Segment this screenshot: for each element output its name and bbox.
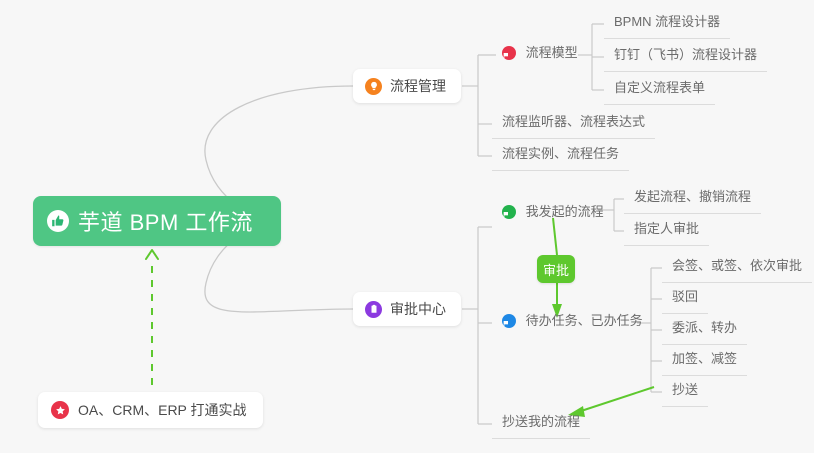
leaf-label-start-cancel: 发起流程、撤销流程 bbox=[634, 189, 751, 204]
leaf-start-cancel[interactable]: 发起流程、撤销流程 bbox=[624, 187, 761, 214]
node-process-model[interactable]: 流程模型 bbox=[492, 43, 588, 69]
leaf-label-instance-task: 流程实例、流程任务 bbox=[502, 146, 619, 161]
leaf-label-cc: 抄送 bbox=[672, 382, 698, 397]
leaf-label-listener-expression: 流程监听器、流程表达式 bbox=[502, 114, 645, 129]
flag-icon bbox=[502, 205, 516, 219]
leaf-label-cc-to-me: 抄送我的流程 bbox=[502, 414, 580, 429]
float-node-integration-practice[interactable]: OA、CRM、ERP 打通实战 bbox=[38, 392, 263, 428]
leaf-label-delegate-transfer: 委派、转办 bbox=[672, 320, 737, 335]
leaf-add-remove-sign[interactable]: 加签、减签 bbox=[662, 349, 747, 376]
node-label-todo-done: 待办任务、已办任务 bbox=[526, 313, 643, 328]
branch-label-approval-center: 审批中心 bbox=[390, 299, 446, 319]
root-node[interactable]: 芋道 BPM 工作流 bbox=[33, 196, 281, 246]
node-todo-done[interactable]: 待办任务、已办任务 bbox=[492, 311, 653, 337]
node-my-started[interactable]: 我发起的流程 bbox=[492, 202, 614, 228]
branch-node-approval-center[interactable]: 审批中心 bbox=[353, 292, 461, 326]
leaf-label-dingtalk-designer: 钉钉（飞书）流程设计器 bbox=[614, 47, 757, 62]
branch-node-process-management[interactable]: 流程管理 bbox=[353, 69, 461, 103]
leaf-assignee-approval[interactable]: 指定人审批 bbox=[624, 219, 709, 246]
leaf-label-countersign: 会签、或签、依次审批 bbox=[672, 258, 802, 273]
leaf-label-add-remove-sign: 加签、减签 bbox=[672, 351, 737, 366]
node-label-process-model: 流程模型 bbox=[526, 45, 578, 60]
root-label: 芋道 BPM 工作流 bbox=[78, 205, 253, 237]
branch-label-process-management: 流程管理 bbox=[390, 76, 446, 96]
leaf-dingtalk-designer[interactable]: 钉钉（飞书）流程设计器 bbox=[604, 45, 767, 72]
leaf-reject[interactable]: 驳回 bbox=[662, 287, 708, 314]
star-icon bbox=[51, 401, 69, 419]
leaf-cc-to-me[interactable]: 抄送我的流程 bbox=[492, 412, 590, 439]
leaf-label-bpmn-designer: BPMN 流程设计器 bbox=[614, 14, 720, 29]
leaf-instance-task[interactable]: 流程实例、流程任务 bbox=[492, 144, 629, 171]
leaf-listener-expression[interactable]: 流程监听器、流程表达式 bbox=[492, 112, 655, 139]
annotation-approval-badge: 审批 bbox=[537, 255, 575, 283]
arrow-cc-to-flow bbox=[578, 387, 654, 412]
leaf-label-reject: 驳回 bbox=[672, 289, 698, 304]
arrowhead-integration-up bbox=[146, 250, 158, 259]
leaf-delegate-transfer[interactable]: 委派、转办 bbox=[662, 318, 747, 345]
lightbulb-icon bbox=[365, 78, 382, 95]
flag-icon bbox=[502, 314, 516, 328]
flag-icon bbox=[502, 46, 516, 60]
leaf-label-assignee-approval: 指定人审批 bbox=[634, 221, 699, 236]
annotation-approval-label: 审批 bbox=[543, 260, 569, 279]
clipboard-icon bbox=[365, 301, 382, 318]
node-label-my-started: 我发起的流程 bbox=[526, 204, 604, 219]
leaf-cc[interactable]: 抄送 bbox=[662, 380, 708, 407]
leaf-countersign[interactable]: 会签、或签、依次审批 bbox=[662, 256, 812, 283]
leaf-bpmn-designer[interactable]: BPMN 流程设计器 bbox=[604, 12, 730, 39]
float-label-integration-practice: OA、CRM、ERP 打通实战 bbox=[78, 400, 247, 420]
mindmap-canvas: 芋道 BPM 工作流 流程管理 流程模型 BPMN 流程设计器 钉钉（飞书）流程… bbox=[0, 0, 814, 453]
leaf-label-custom-form: 自定义流程表单 bbox=[614, 80, 705, 95]
leaf-custom-form[interactable]: 自定义流程表单 bbox=[604, 78, 715, 105]
thumbs-up-icon bbox=[47, 210, 69, 232]
